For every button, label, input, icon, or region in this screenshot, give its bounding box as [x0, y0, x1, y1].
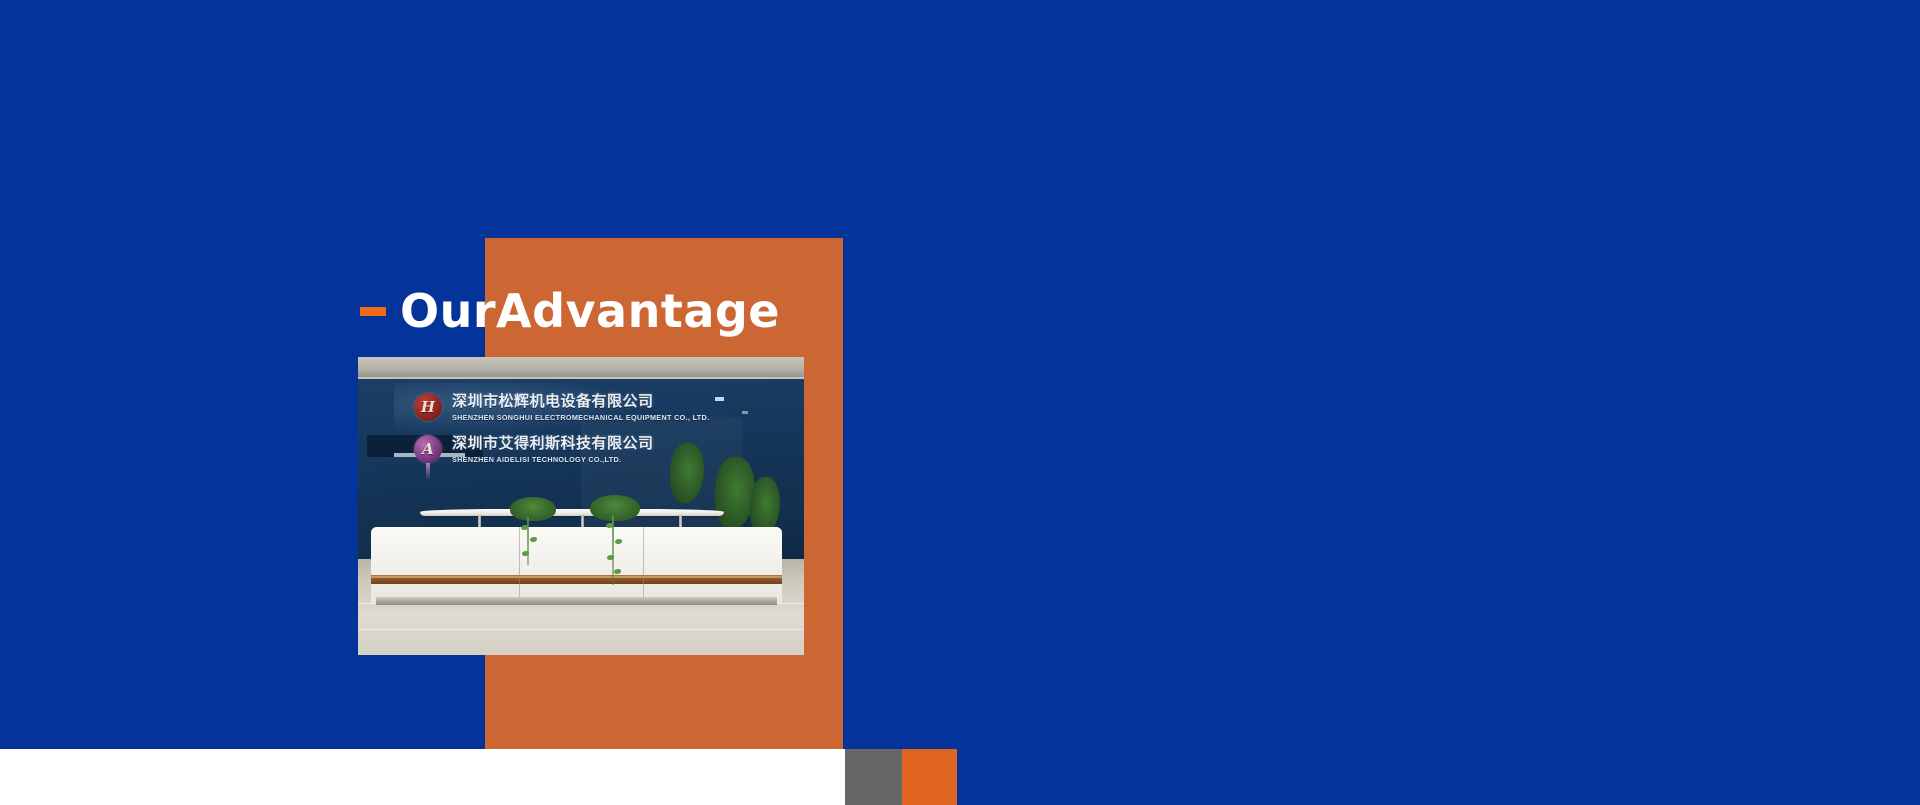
page-title-word-advantage: Advantage	[496, 288, 780, 334]
slide-canvas: Our Advantage H 深圳市松辉机电设备有限公司 SHE	[0, 0, 1920, 805]
photo-desk-plant	[590, 495, 640, 521]
photo-vine-leaf	[607, 555, 614, 560]
photo-hanging-vine	[527, 517, 529, 565]
desk-chrome-base	[376, 597, 777, 605]
aidelisi-logo-tail	[426, 463, 430, 479]
title-dash-icon	[360, 307, 386, 316]
signage-row: H 深圳市松辉机电设备有限公司 SHENZHEN SONGHUI ELECTRO…	[414, 393, 754, 429]
page-title-word-our: Our	[400, 288, 496, 334]
photo-vine-leaf	[530, 537, 537, 542]
desk-panel-seam	[643, 527, 644, 597]
photo-ceiling	[358, 357, 804, 379]
photo-content: H 深圳市松辉机电设备有限公司 SHENZHEN SONGHUI ELECTRO…	[358, 357, 804, 655]
reception-desk-body	[371, 527, 781, 603]
photo-vine-leaf	[521, 525, 528, 530]
songhui-logo-icon: H	[414, 393, 442, 421]
songhui-logo-glyph: H	[414, 393, 442, 421]
desk-wood-highlight	[371, 576, 781, 578]
signage-chinese-name: 深圳市松辉机电设备有限公司	[452, 392, 654, 411]
signage-english-name: SHENZHEN SONGHUI ELECTROMECHANICAL EQUIP…	[452, 413, 709, 422]
desk-panel-seam	[519, 527, 520, 597]
photo-vine-leaf	[615, 539, 622, 544]
photo-floor-seam	[358, 629, 804, 630]
reception-photo: H 深圳市松辉机电设备有限公司 SHENZHEN SONGHUI ELECTRO…	[358, 357, 804, 655]
signage-chinese-name: 深圳市艾得利斯科技有限公司	[452, 434, 654, 453]
aidelisi-logo-glyph: A	[414, 435, 442, 463]
aidelisi-logo-icon: A	[414, 435, 442, 463]
bottom-bar-white	[0, 749, 845, 805]
signage-english-name: SHENZHEN AIDELISI TECHNOLOGY CO.,LTD.	[452, 455, 621, 464]
photo-desk-plant	[510, 497, 556, 521]
bottom-bar-orange-block	[902, 749, 957, 805]
page-title: Our Advantage	[360, 283, 780, 339]
bottom-bar-gray-block	[845, 749, 902, 805]
